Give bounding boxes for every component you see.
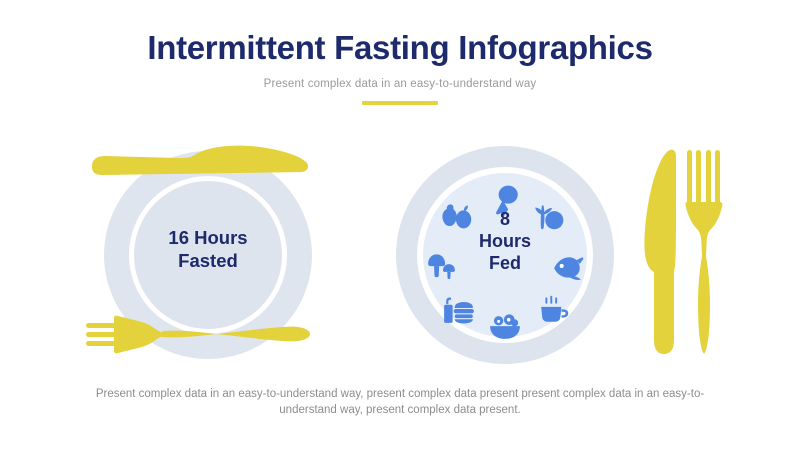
fork-icon (84, 312, 310, 358)
fork-icon (684, 144, 724, 358)
page-subtitle: Present complex data in an easy-to-under… (0, 77, 800, 91)
fed-label-line-3: Fed (396, 252, 614, 274)
fasted-label-line-2: Fasted (104, 249, 312, 272)
sandwich-icon (442, 292, 476, 326)
fasted-label-line-1: 16 Hours (104, 226, 312, 249)
panel-fed: 8 Hours Fed (392, 140, 620, 370)
knife-icon (640, 144, 682, 358)
fasted-label: 16 Hours Fasted (104, 226, 312, 272)
knife-icon (84, 145, 310, 185)
coffee-cup-icon (538, 292, 572, 326)
footer-description: Present complex data in an easy-to-under… (88, 386, 712, 418)
salad-bowl-icon (488, 308, 522, 342)
fed-label: 8 Hours Fed (396, 208, 614, 274)
fed-label-line-2: Hours (396, 230, 614, 252)
header: Intermittent Fasting Infographics Presen… (0, 28, 800, 105)
page-title: Intermittent Fasting Infographics (0, 28, 800, 68)
fed-label-line-1: 8 (396, 208, 614, 230)
infographic-slide: Intermittent Fasting Infographics Presen… (0, 0, 800, 450)
title-divider (362, 101, 438, 105)
